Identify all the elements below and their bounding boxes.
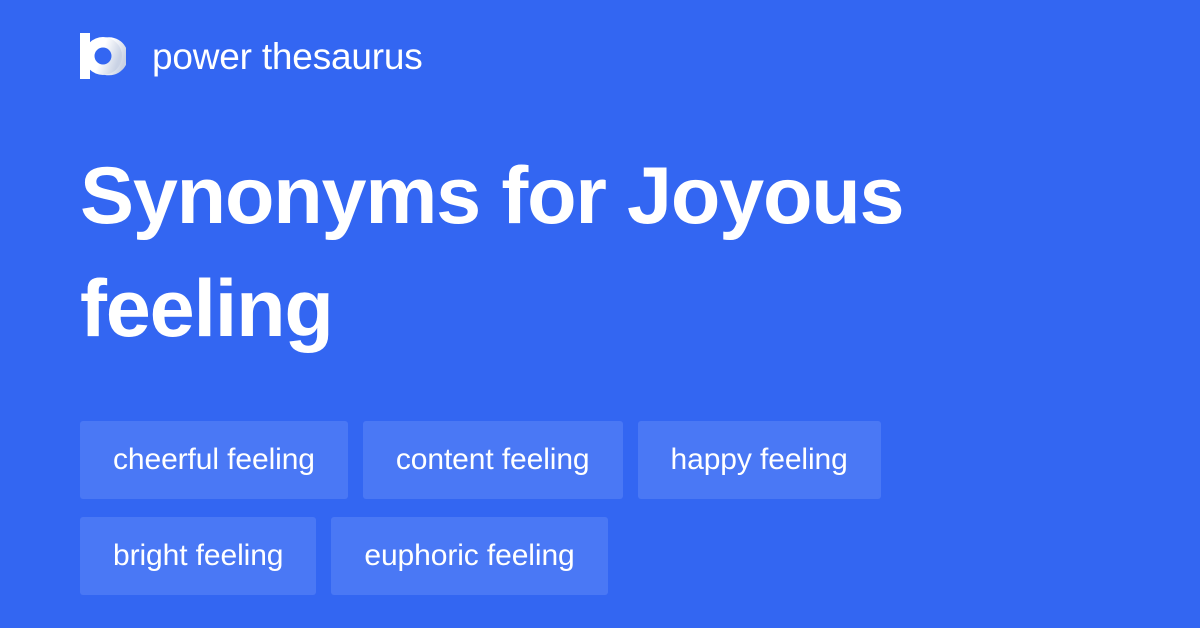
social-share-card: power thesaurus Synonyms for Joyous feel… bbox=[0, 0, 1200, 628]
synonym-chip[interactable]: happy feeling bbox=[638, 421, 881, 499]
brand-lockup[interactable]: power thesaurus bbox=[80, 28, 423, 84]
page-title: Synonyms for Joyous feeling bbox=[80, 140, 1040, 366]
synonym-chip-list: cheerful feeling content feeling happy f… bbox=[80, 421, 1090, 595]
synonym-chip[interactable]: content feeling bbox=[363, 421, 623, 499]
power-thesaurus-b-logo-icon bbox=[80, 31, 126, 81]
synonym-chip[interactable]: cheerful feeling bbox=[80, 421, 348, 499]
synonym-chip[interactable]: euphoric feeling bbox=[331, 517, 607, 595]
synonym-chip[interactable]: bright feeling bbox=[80, 517, 316, 595]
brand-name: power thesaurus bbox=[152, 38, 423, 75]
